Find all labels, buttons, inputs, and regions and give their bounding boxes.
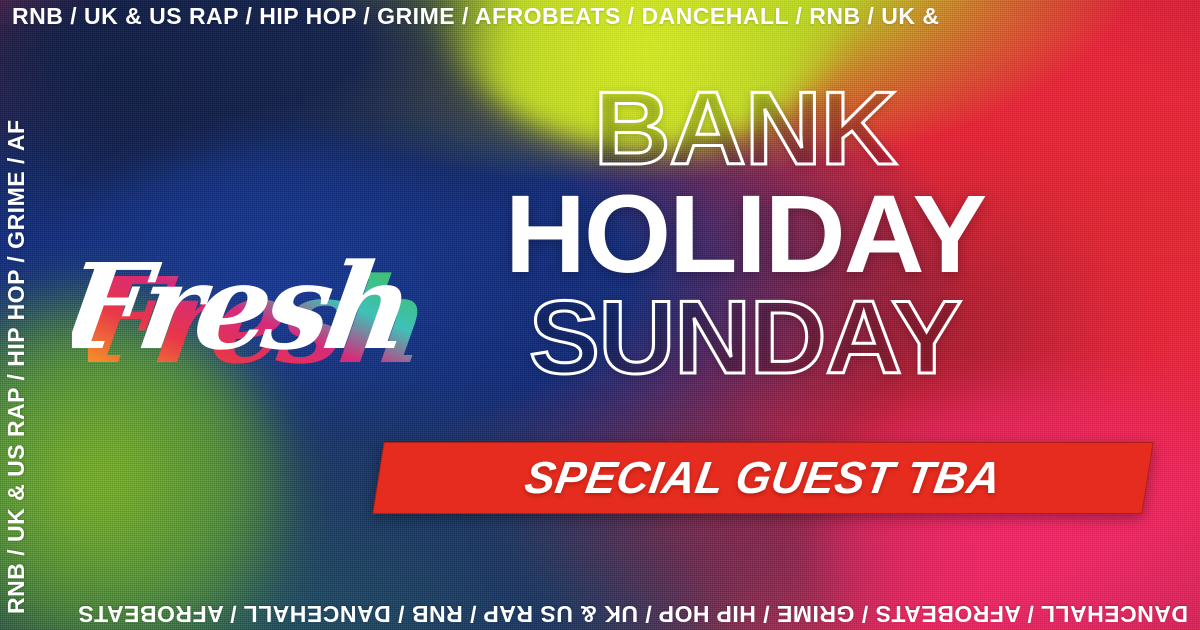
svg-text:Fresh: Fresh — [72, 239, 412, 377]
fresh-logo-wordmark: Fresh — [72, 236, 412, 386]
special-guest-banner: SPECIAL GUEST TBA — [372, 442, 1153, 514]
headline-block: BANK HOLIDAY SUNDAY — [400, 82, 1090, 387]
headline-line-sunday: SUNDAY — [393, 291, 1097, 387]
headline-line-bank: BANK — [393, 82, 1097, 178]
event-poster: RNB / UK & US RAP / HIP HOP / GRIME / AF… — [0, 0, 1200, 630]
poster-content: Fresh Fresh BANK HOLIDAY SUNDAY SPECIAL … — [0, 0, 1200, 630]
headline-line-holiday: HOLIDAY — [393, 184, 1097, 285]
fresh-logo: Fresh Fresh — [72, 236, 412, 386]
special-guest-banner-label: SPECIAL GUEST TBA — [521, 452, 1004, 504]
